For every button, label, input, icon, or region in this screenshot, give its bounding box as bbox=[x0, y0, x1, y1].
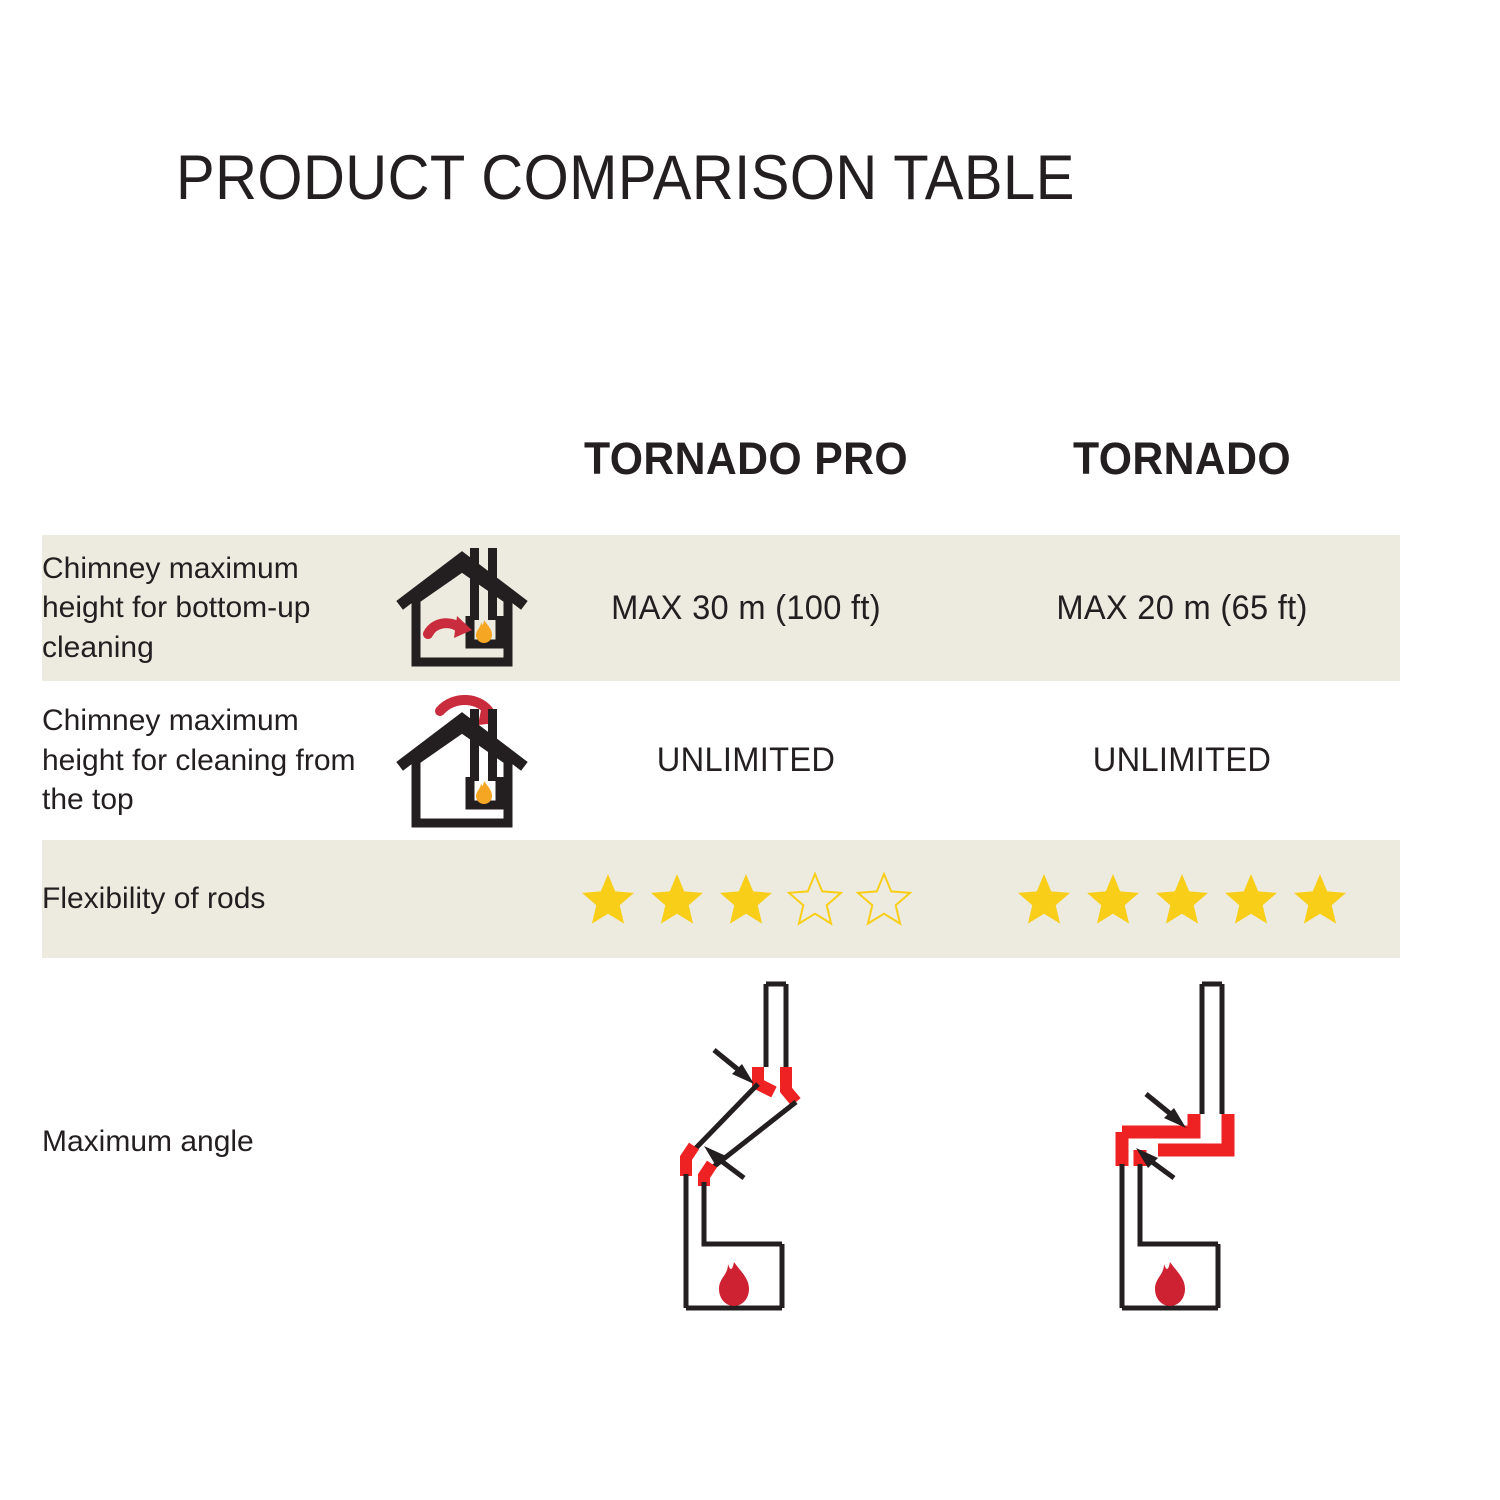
value-cell-tornado-pro: UNLIMITED bbox=[537, 681, 956, 840]
star-rating-tornado-pro bbox=[528, 871, 964, 927]
page-title: PRODUCT COMPARISON TABLE bbox=[176, 142, 1075, 214]
feature-label: Flexibility of rods bbox=[42, 882, 265, 915]
feature-cell-maximum-angle: Maximum angle bbox=[42, 958, 528, 1326]
star-filled-icon bbox=[1085, 871, 1141, 927]
header-product-label: TORNADO PRO bbox=[584, 433, 908, 484]
star-empty-icon bbox=[856, 871, 912, 927]
value-text: UNLIMITED bbox=[657, 741, 836, 779]
star-filled-icon bbox=[580, 871, 636, 927]
value-text: UNLIMITED bbox=[1093, 741, 1272, 779]
table-row: Chimney maximum height for bottom-up cle… bbox=[42, 535, 1400, 681]
table-row: Maximum angle bbox=[42, 958, 1400, 1326]
star-rating-tornado bbox=[964, 871, 1400, 927]
value-cell-tornado bbox=[964, 840, 1400, 958]
star-filled-icon bbox=[1223, 871, 1279, 927]
header-product-tornado-pro: TORNADO PRO bbox=[539, 383, 953, 535]
value-text: MAX 30 m (100 ft) bbox=[611, 589, 881, 627]
flue-gentle-bend-diagram bbox=[528, 972, 964, 1312]
feature-cell-top-down-cleaning: Chimney maximum height for cleaning from… bbox=[42, 681, 528, 840]
feature-label: Chimney maximum height for cleaning from… bbox=[42, 701, 372, 820]
header-product-label: TORNADO bbox=[1073, 433, 1291, 484]
feature-cell-bottom-up-cleaning: Chimney maximum height for bottom-up cle… bbox=[42, 535, 528, 681]
feature-label: Maximum angle bbox=[42, 1125, 254, 1158]
product-comparison-table: TORNADO PRO TORNADO Chimney maximum heig… bbox=[42, 383, 1400, 1326]
house-chimney-top-down-icon bbox=[396, 687, 528, 835]
table-row: Chimney maximum height for cleaning from… bbox=[42, 681, 1400, 840]
feature-label: Chimney maximum height for bottom-up cle… bbox=[42, 549, 372, 668]
house-chimney-bottom-up-icon bbox=[396, 542, 528, 674]
value-cell-tornado-pro: MAX 30 m (100 ft) bbox=[537, 535, 956, 681]
feature-cell-flexibility-of-rods: Flexibility of rods bbox=[42, 840, 528, 958]
flue-sharp-bend-diagram bbox=[964, 972, 1400, 1312]
star-filled-icon bbox=[1154, 871, 1210, 927]
star-empty-icon bbox=[787, 871, 843, 927]
value-cell-tornado: UNLIMITED bbox=[973, 681, 1392, 840]
table-header-row: TORNADO PRO TORNADO bbox=[42, 383, 1400, 535]
header-product-tornado: TORNADO bbox=[975, 383, 1389, 535]
value-cell-tornado-pro bbox=[528, 840, 964, 958]
value-cell-tornado-pro bbox=[528, 958, 964, 1326]
value-cell-tornado: MAX 20 m (65 ft) bbox=[973, 535, 1392, 681]
star-filled-icon bbox=[1292, 871, 1348, 927]
star-filled-icon bbox=[718, 871, 774, 927]
table-row: Flexibility of rods bbox=[42, 840, 1400, 958]
star-filled-icon bbox=[1016, 871, 1072, 927]
star-filled-icon bbox=[649, 871, 705, 927]
header-feature-blank-cell bbox=[42, 383, 528, 535]
value-text: MAX 20 m (65 ft) bbox=[1056, 589, 1307, 627]
value-cell-tornado bbox=[964, 958, 1400, 1326]
